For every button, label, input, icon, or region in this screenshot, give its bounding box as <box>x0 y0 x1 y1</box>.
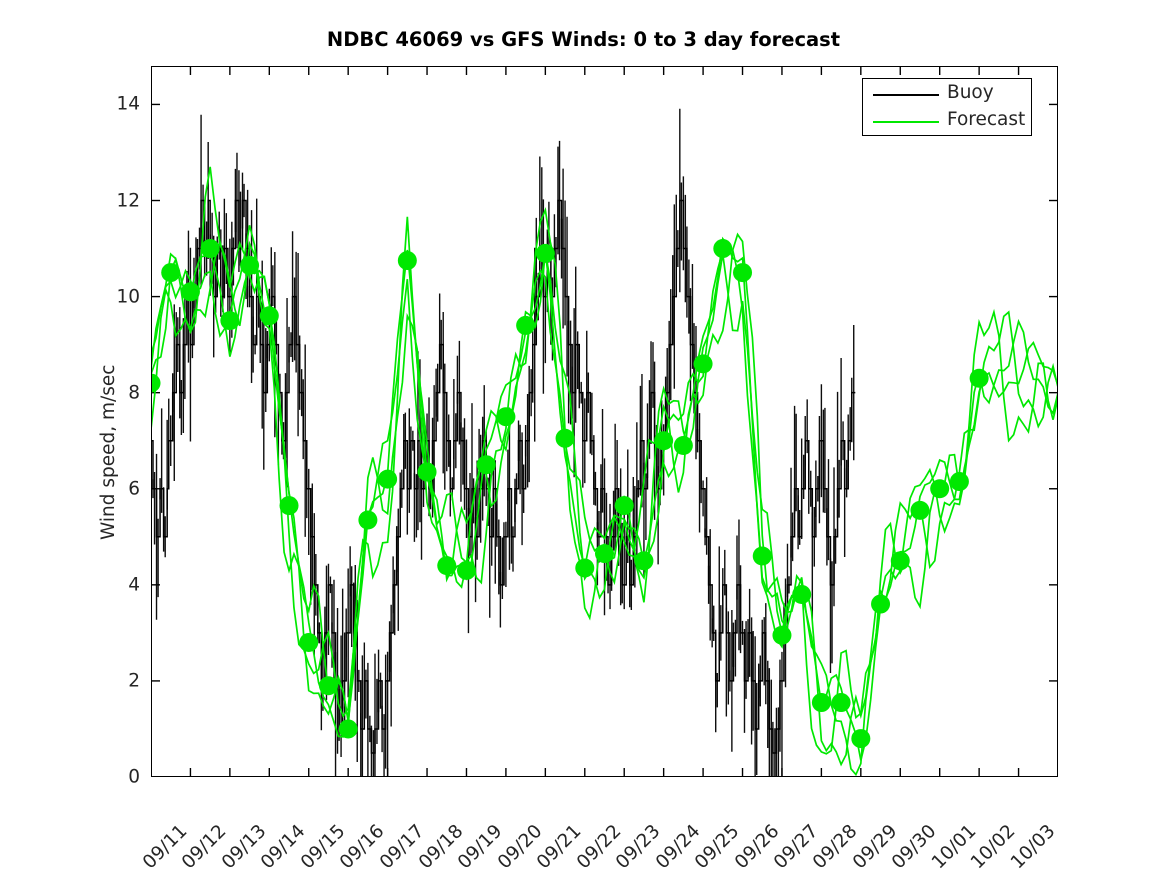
chart-page: NDBC 46069 vs GFS Winds: 0 to 3 day fore… <box>0 0 1167 875</box>
y-axis-tick-labels: 02468101214 <box>96 66 140 777</box>
x-tick-label: 09/25 <box>691 821 744 874</box>
x-tick-label: 10/03 <box>1006 821 1059 874</box>
x-tick-label: 09/23 <box>612 821 665 874</box>
legend-entry-buoy: Buoy <box>863 80 1033 109</box>
x-tick-label: 09/19 <box>454 821 507 874</box>
x-tick-label: 09/13 <box>218 821 271 874</box>
axes-frame <box>151 66 1058 777</box>
x-tick-label: 10/02 <box>967 821 1020 874</box>
x-tick-label: 09/16 <box>336 821 389 874</box>
x-tick-label: 09/28 <box>809 821 862 874</box>
x-tick-label: 09/20 <box>494 821 547 874</box>
y-tick-label: 4 <box>100 574 140 595</box>
x-tick-label: 09/15 <box>297 821 350 874</box>
legend-label-forecast: Forecast <box>947 109 1025 130</box>
x-tick-label: 09/24 <box>652 821 705 874</box>
y-tick-label: 0 <box>100 767 140 788</box>
plot-area <box>151 66 1058 777</box>
legend-entry-forecast: Forecast <box>863 107 1033 136</box>
x-tick-label: 09/12 <box>178 821 231 874</box>
y-tick-label: 2 <box>100 670 140 691</box>
y-tick-label: 6 <box>100 478 140 499</box>
x-tick-label: 09/11 <box>139 821 192 874</box>
legend-swatch-buoy <box>873 94 939 96</box>
y-tick-label: 12 <box>100 190 140 211</box>
x-tick-label: 09/17 <box>376 821 429 874</box>
x-tick-label: 09/18 <box>415 821 468 874</box>
x-tick-label: 09/29 <box>849 821 902 874</box>
x-axis-tick-labels: 09/1109/1209/1309/1409/1509/1609/1709/18… <box>151 783 1058 873</box>
x-tick-label: 10/01 <box>928 821 981 874</box>
y-tick-label: 8 <box>100 382 140 403</box>
chart-title: NDBC 46069 vs GFS Winds: 0 to 3 day fore… <box>0 28 1167 51</box>
x-tick-label: 09/22 <box>573 821 626 874</box>
x-tick-label: 09/14 <box>257 821 310 874</box>
x-tick-label: 09/30 <box>888 821 941 874</box>
legend-swatch-forecast <box>873 121 939 123</box>
x-tick-label: 09/26 <box>730 821 783 874</box>
y-tick-label: 10 <box>100 286 140 307</box>
chart-legend: Buoy Forecast <box>862 78 1032 136</box>
x-tick-label: 09/21 <box>533 821 586 874</box>
y-tick-label: 14 <box>100 94 140 115</box>
legend-label-buoy: Buoy <box>947 82 994 103</box>
x-tick-label: 09/27 <box>770 821 823 874</box>
